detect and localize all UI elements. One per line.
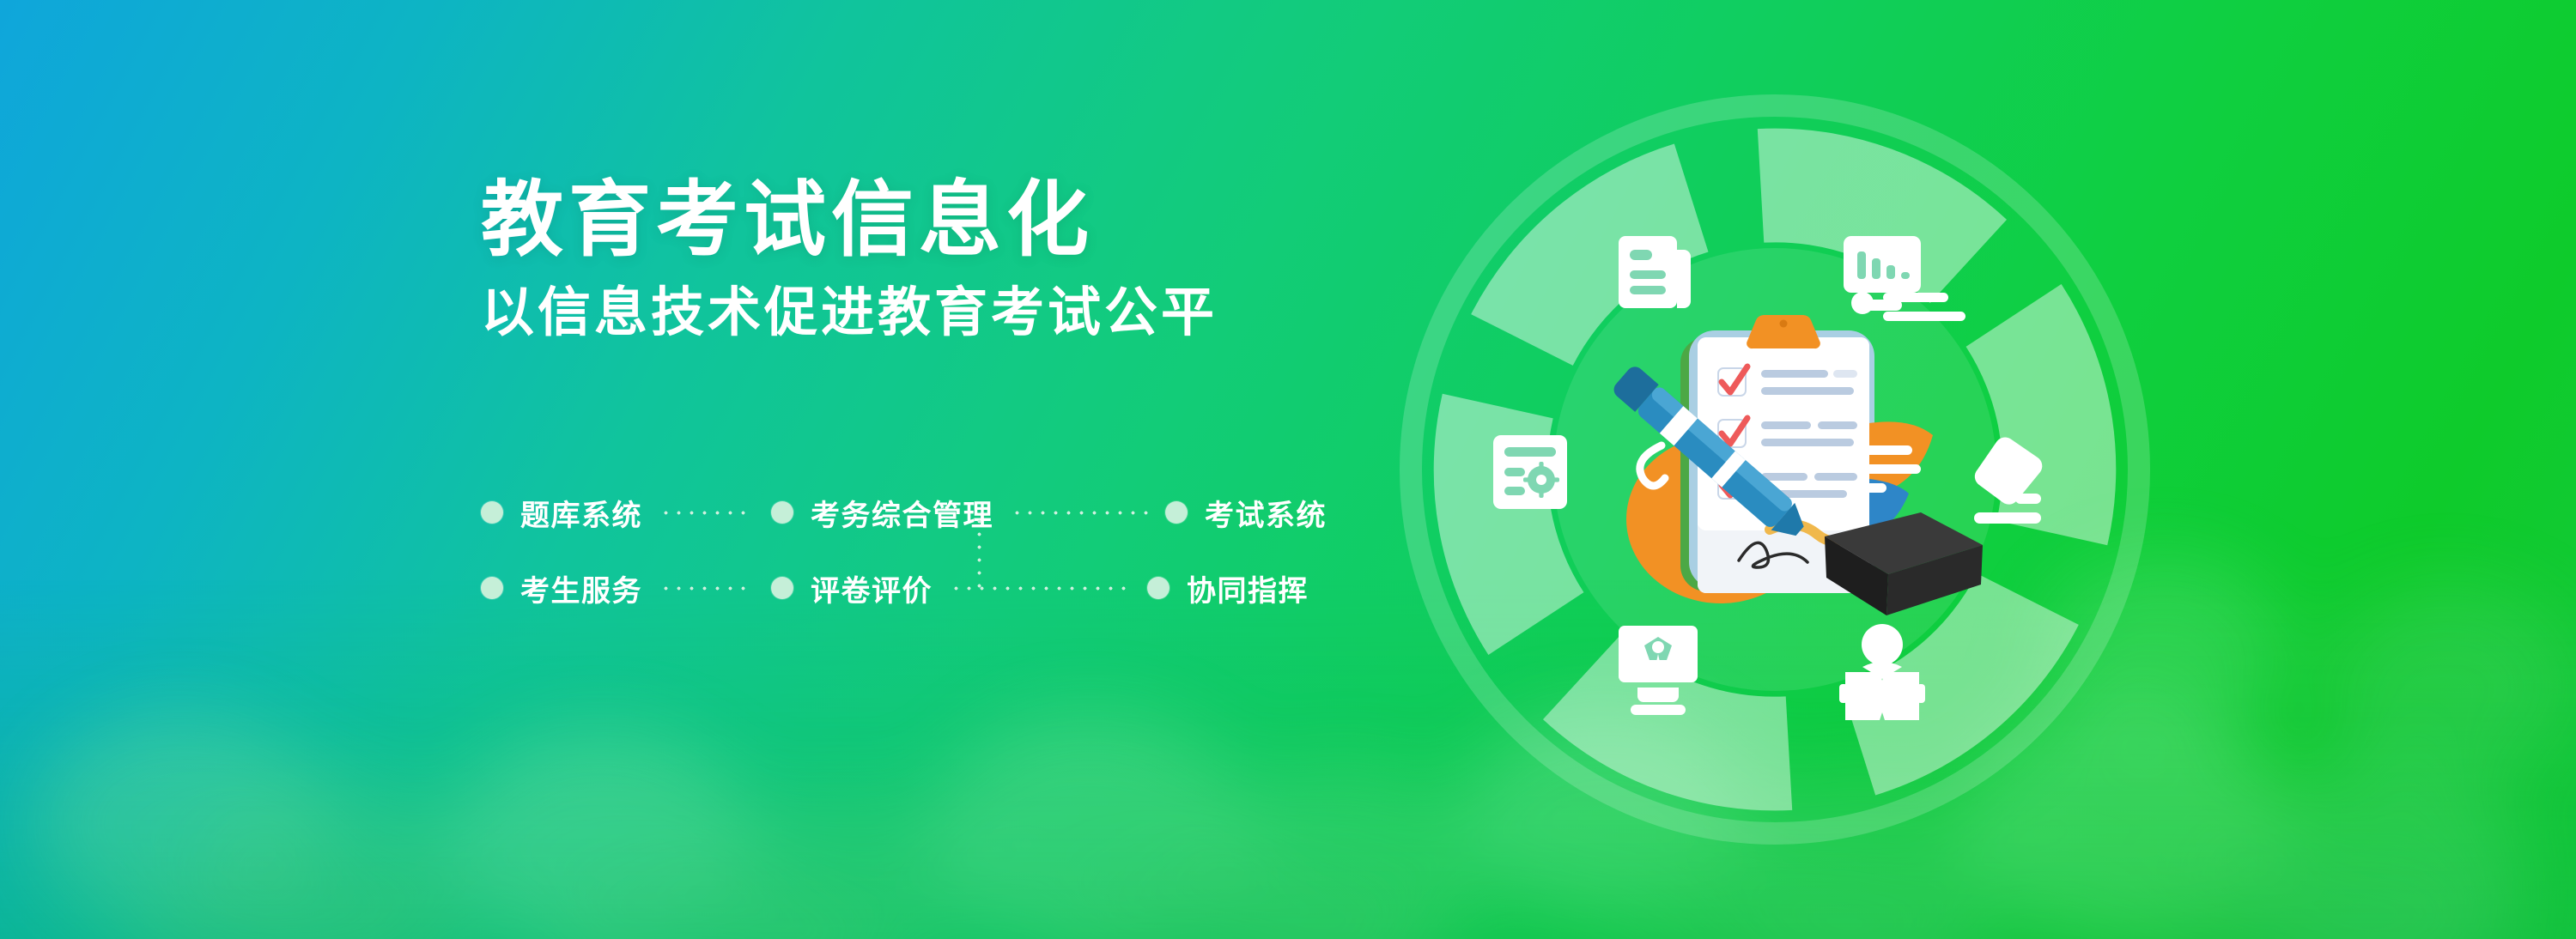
feature-item-kaowu[interactable]: 考务综合管理 [811,492,993,534]
hero-banner: 教育考试信息化 以信息技术促进教育考试公平 题库系统 考务综合管理 考试系统 考… [0,0,2576,939]
bullet-dot-icon [481,577,503,599]
bottom-gradient-wash [0,579,2576,939]
feature-item-xietong[interactable]: 协同指挥 [1187,567,1309,609]
bullet-dot-icon [1147,577,1170,599]
dotted-connector [659,586,754,591]
feature-item-tiku[interactable]: 题库系统 [520,492,642,534]
feature-row-2: 考生服务 评卷评价 协同指挥 [481,560,1344,615]
bullet-dot-icon [1165,501,1188,524]
feature-list: 题库系统 考务综合管理 考试系统 考生服务 评卷评价 协同指挥 [481,485,1344,615]
capability-wheel [1397,92,2153,847]
feature-item-kaosheng[interactable]: 考生服务 [520,567,642,609]
settings-panel-icon [1493,435,1567,509]
clipboard-checklist-illustration [1579,262,1983,665]
feature-item-kaoshi[interactable]: 考试系统 [1205,492,1327,534]
orange-clipboard-clip [1747,315,1820,348]
feature-item-pingjuan[interactable]: 评卷评价 [811,567,933,609]
dotted-connector [1011,511,1148,515]
page-title: 教育考试信息化 [481,176,1218,265]
status-lines-badge [1851,292,1965,321]
bullet-dot-icon [481,501,503,524]
bullet-dot-icon [771,501,793,524]
feature-row-1: 题库系统 考务综合管理 考试系统 [481,485,1344,540]
page-subtitle: 以信息技术促进教育考试公平 [481,284,1218,342]
headline-block: 教育考试信息化 以信息技术促进教育考试公平 [481,176,1218,342]
bullet-dot-icon [771,577,793,599]
dotted-connector [659,511,754,515]
vertical-dotted-connector [977,515,981,592]
